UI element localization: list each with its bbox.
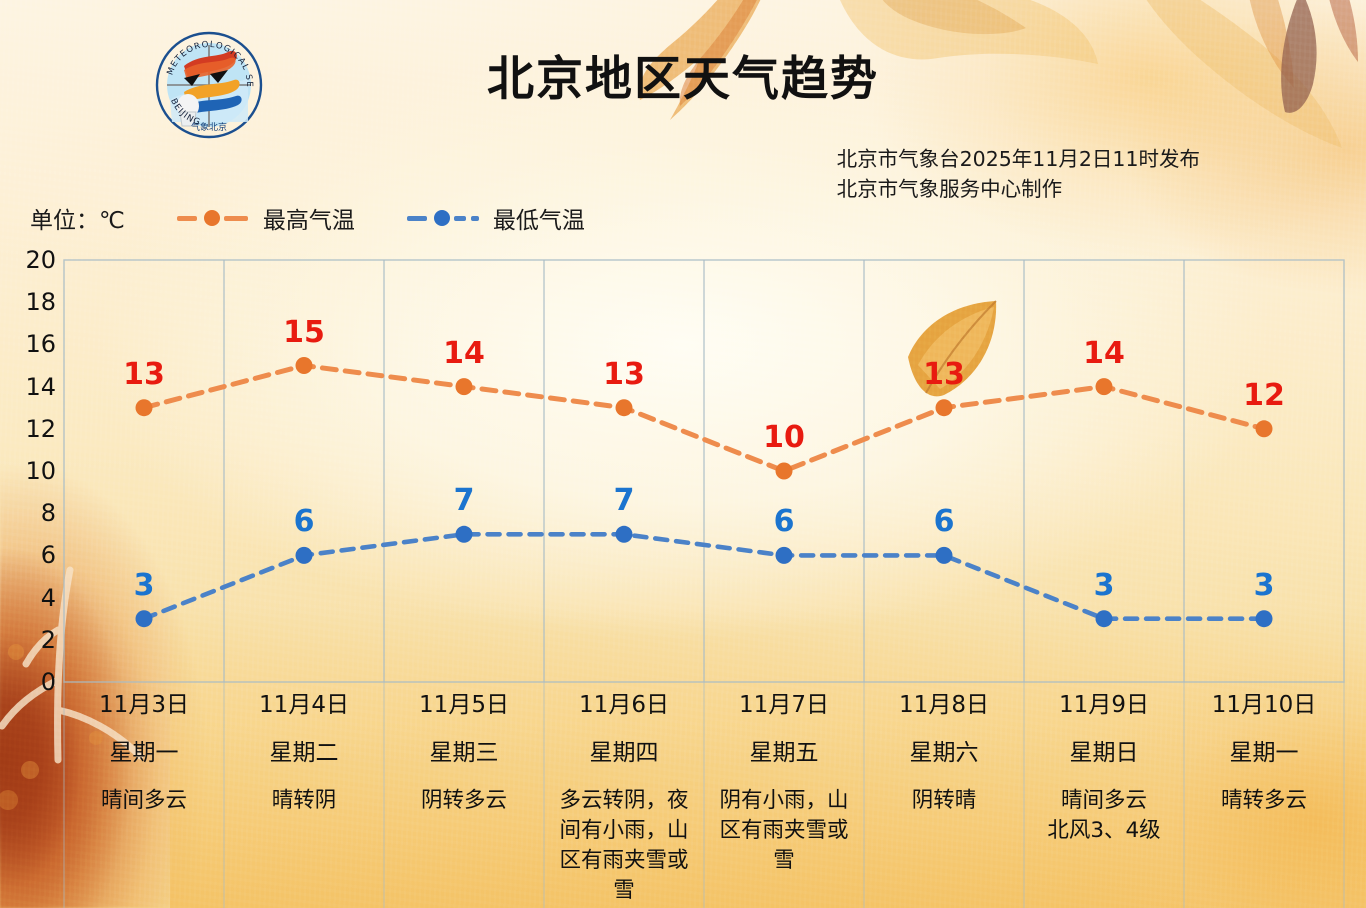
low-temp-label-7: 3 <box>1254 568 1275 603</box>
y-axis-tick-16: 16 <box>0 330 56 358</box>
day-column-7: 11月10日星期一晴转多云 <box>1184 690 1344 816</box>
day-weather-description: 晴转多云 <box>1184 786 1344 816</box>
day-date-label: 11月3日 <box>64 690 224 720</box>
day-weather-description: 晴间多云 <box>64 786 224 816</box>
day-weather-description: 阴有小雨，山区有雨夹雪或雪 <box>704 786 864 876</box>
y-axis-tick-8: 8 <box>0 499 56 527</box>
high-temp-label-7: 12 <box>1243 378 1285 413</box>
day-weekday-label: 星期六 <box>864 738 1024 768</box>
day-date-label: 11月4日 <box>224 690 384 720</box>
day-column-5: 11月8日星期六阴转晴 <box>864 690 1024 816</box>
day-weekday-label: 星期一 <box>1184 738 1344 768</box>
day-date-label: 11月7日 <box>704 690 864 720</box>
low-temp-label-6: 3 <box>1094 568 1115 603</box>
y-axis-tick-10: 10 <box>0 457 56 485</box>
day-weekday-label: 星期日 <box>1024 738 1184 768</box>
day-weather-description: 阴转晴 <box>864 786 1024 816</box>
low-temp-label-1: 6 <box>294 504 315 539</box>
y-axis-tick-0: 0 <box>0 668 56 696</box>
high-temp-label-4: 10 <box>763 420 805 455</box>
day-date-label: 11月8日 <box>864 690 1024 720</box>
day-column-3: 11月6日星期四多云转阴，夜间有小雨，山区有雨夹雪或雪 <box>544 690 704 906</box>
day-column-0: 11月3日星期一晴间多云 <box>64 690 224 816</box>
y-axis-tick-4: 4 <box>0 584 56 612</box>
day-column-6: 11月9日星期日晴间多云 北风3、4级 <box>1024 690 1184 846</box>
low-temp-label-5: 6 <box>934 504 955 539</box>
day-weekday-label: 星期二 <box>224 738 384 768</box>
day-weekday-label: 星期三 <box>384 738 544 768</box>
day-weather-description: 晴间多云 北风3、4级 <box>1024 786 1184 846</box>
y-axis-tick-14: 14 <box>0 373 56 401</box>
high-temp-label-2: 14 <box>443 336 485 371</box>
temperature-trend-chart: 02468101214161820 1315141310131412367766… <box>0 0 1366 908</box>
day-date-label: 11月10日 <box>1184 690 1344 720</box>
day-column-1: 11月4日星期二晴转阴 <box>224 690 384 816</box>
day-weekday-label: 星期一 <box>64 738 224 768</box>
day-weekday-label: 星期四 <box>544 738 704 768</box>
low-temp-label-4: 6 <box>774 504 795 539</box>
day-weather-description: 晴转阴 <box>224 786 384 816</box>
low-temp-label-3: 7 <box>614 483 635 518</box>
y-axis-tick-6: 6 <box>0 541 56 569</box>
high-temp-label-6: 14 <box>1083 336 1125 371</box>
day-weather-description: 阴转多云 <box>384 786 544 816</box>
day-column-4: 11月7日星期五阴有小雨，山区有雨夹雪或雪 <box>704 690 864 876</box>
high-temp-label-3: 13 <box>603 357 645 392</box>
y-axis-tick-20: 20 <box>0 246 56 274</box>
day-weather-description: 多云转阴，夜间有小雨，山区有雨夹雪或雪 <box>544 786 704 906</box>
high-temp-label-5: 13 <box>923 357 965 392</box>
y-axis-tick-18: 18 <box>0 288 56 316</box>
day-column-2: 11月5日星期三阴转多云 <box>384 690 544 816</box>
y-axis-tick-12: 12 <box>0 415 56 443</box>
day-date-label: 11月5日 <box>384 690 544 720</box>
low-temp-label-0: 3 <box>134 568 155 603</box>
low-temp-label-2: 7 <box>454 483 475 518</box>
day-date-label: 11月9日 <box>1024 690 1184 720</box>
weather-trend-poster: 气象北京 METEOROLOGICAL SERVICE BEIJING 北京地区… <box>0 0 1366 908</box>
high-temp-label-0: 13 <box>123 357 165 392</box>
high-temp-label-1: 15 <box>283 315 325 350</box>
day-weekday-label: 星期五 <box>704 738 864 768</box>
day-date-label: 11月6日 <box>544 690 704 720</box>
y-axis-tick-2: 2 <box>0 626 56 654</box>
